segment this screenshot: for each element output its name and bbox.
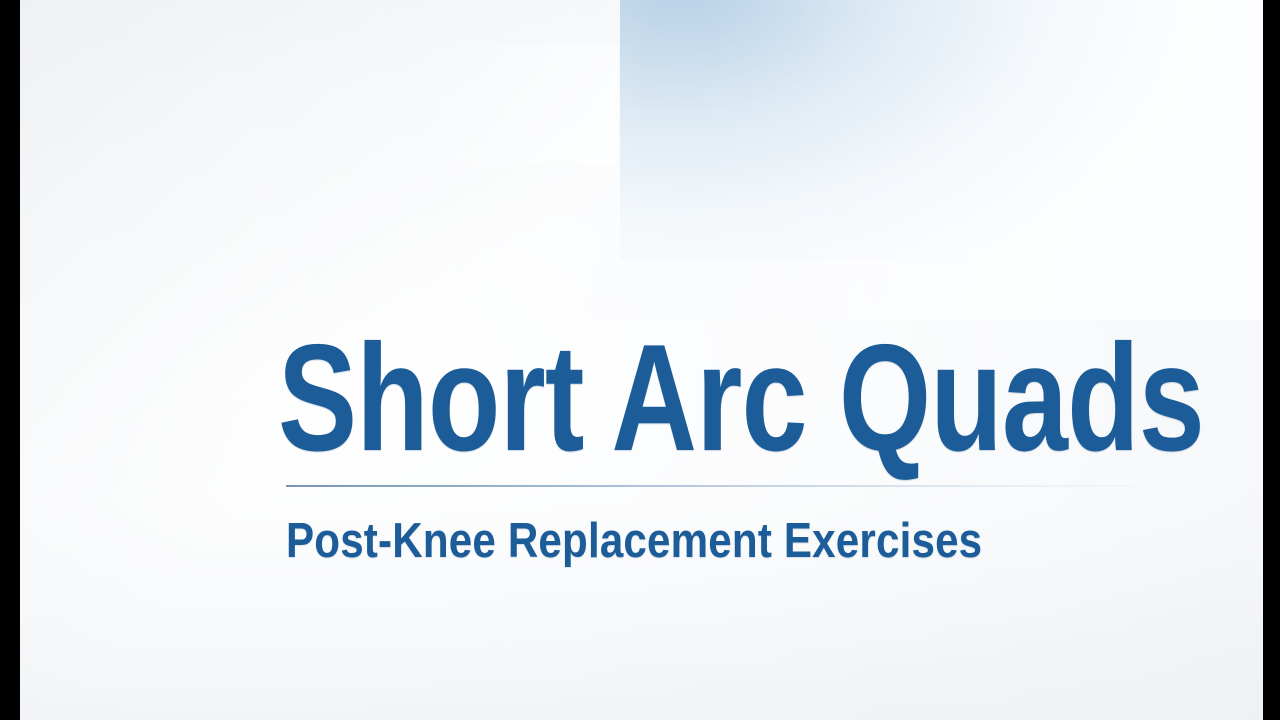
title-text-block: Short Arc Quads Post-Knee Replacement Ex…	[278, 336, 1178, 566]
letterbox-bar-right	[1263, 0, 1280, 720]
title-divider	[286, 485, 1166, 487]
slide-canvas: Short Arc Quads Post-Knee Replacement Ex…	[20, 0, 1263, 720]
page-subtitle: Post-Knee Replacement Exercises	[286, 517, 1053, 566]
title-slide: Short Arc Quads Post-Knee Replacement Ex…	[0, 0, 1280, 720]
page-title: Short Arc Quads	[278, 336, 980, 461]
letterbox-bar-left	[0, 0, 20, 720]
